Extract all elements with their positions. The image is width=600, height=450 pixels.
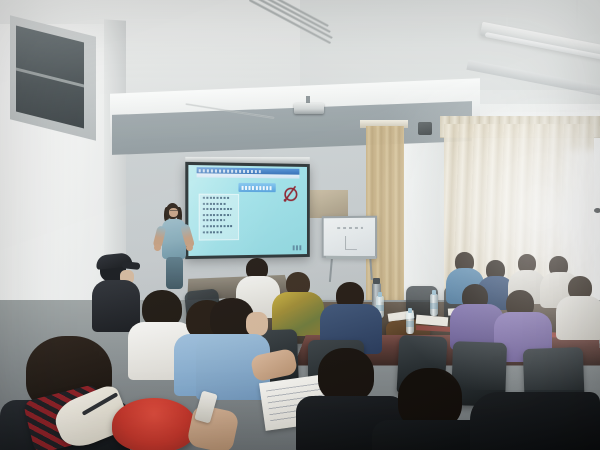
organization-logo <box>279 182 300 204</box>
foreground-attendee-head <box>318 348 374 402</box>
water-bottle <box>430 294 438 316</box>
classroom-photo: Classroom training session with projecto… <box>0 0 600 450</box>
faint-marker-writing <box>345 236 357 250</box>
foreground-attendee <box>470 392 600 450</box>
side-cabinet <box>306 190 348 218</box>
presenter-legs <box>166 257 183 289</box>
whiteboard[interactable] <box>322 216 377 259</box>
slide-title-banner <box>238 183 275 192</box>
seated-attendee <box>92 280 140 332</box>
wall-speaker <box>418 122 432 135</box>
whiteboard-marker-tray <box>326 256 376 259</box>
red-sun-hat <box>112 398 196 450</box>
presentation-toolbar <box>197 173 300 178</box>
faint-marker-writing <box>337 227 363 229</box>
ceiling-projector <box>294 103 324 114</box>
seated-attendee <box>556 296 600 340</box>
projected-slide <box>188 165 307 256</box>
note-taker-face <box>246 312 268 336</box>
slide-footer-text <box>293 245 303 250</box>
slide-bullet-textbox <box>199 194 239 241</box>
presenter-hand <box>154 244 161 251</box>
glasses-icon <box>170 210 178 212</box>
projection-screen[interactable] <box>185 162 310 259</box>
presenter-hand <box>186 244 193 251</box>
water-bottle <box>406 312 414 334</box>
light-suspension-rod <box>576 0 578 30</box>
projector-lens <box>594 208 600 213</box>
